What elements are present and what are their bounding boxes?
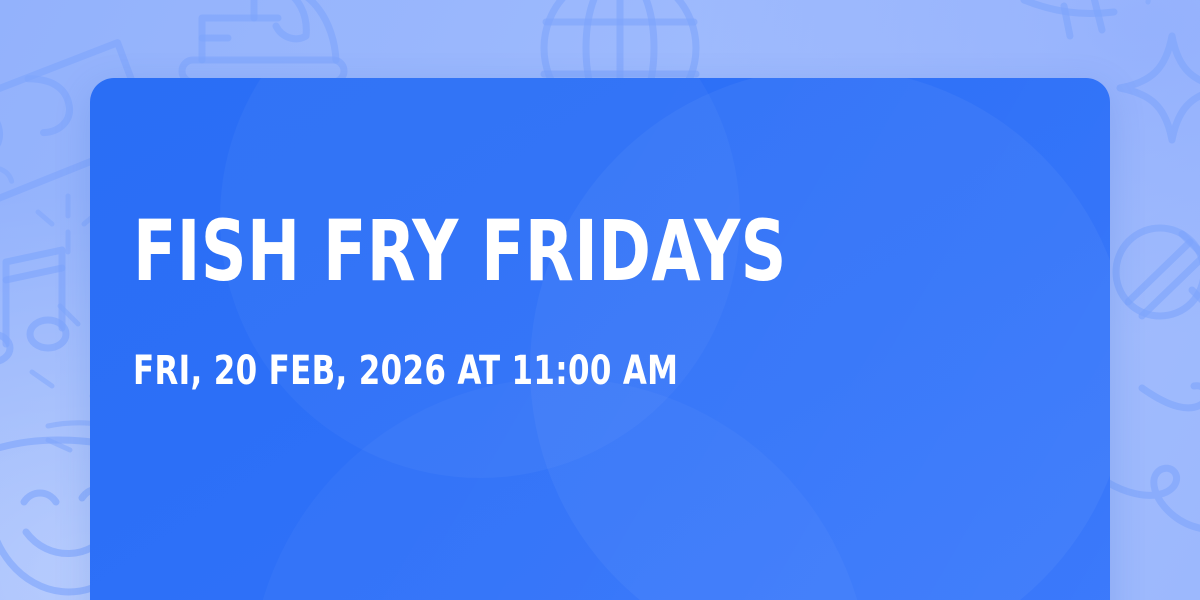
event-title: FISH FRY FRIDAYS	[133, 208, 787, 294]
microphone-icon	[1104, 214, 1200, 384]
sparkle-icon	[1108, 22, 1200, 152]
music-note-icon	[0, 236, 90, 376]
card-content: FISH FRY FRIDAYS FRI, 20 FEB, 2026 AT 11…	[133, 78, 1070, 600]
event-card[interactable]: FISH FRY FRIDAYS FRI, 20 FEB, 2026 AT 11…	[90, 78, 1110, 600]
event-banner: FISH FRY FRIDAYS FRI, 20 FEB, 2026 AT 11…	[0, 0, 1200, 600]
event-datetime: FRI, 20 FEB, 2026 AT 11:00 AM	[133, 350, 678, 392]
